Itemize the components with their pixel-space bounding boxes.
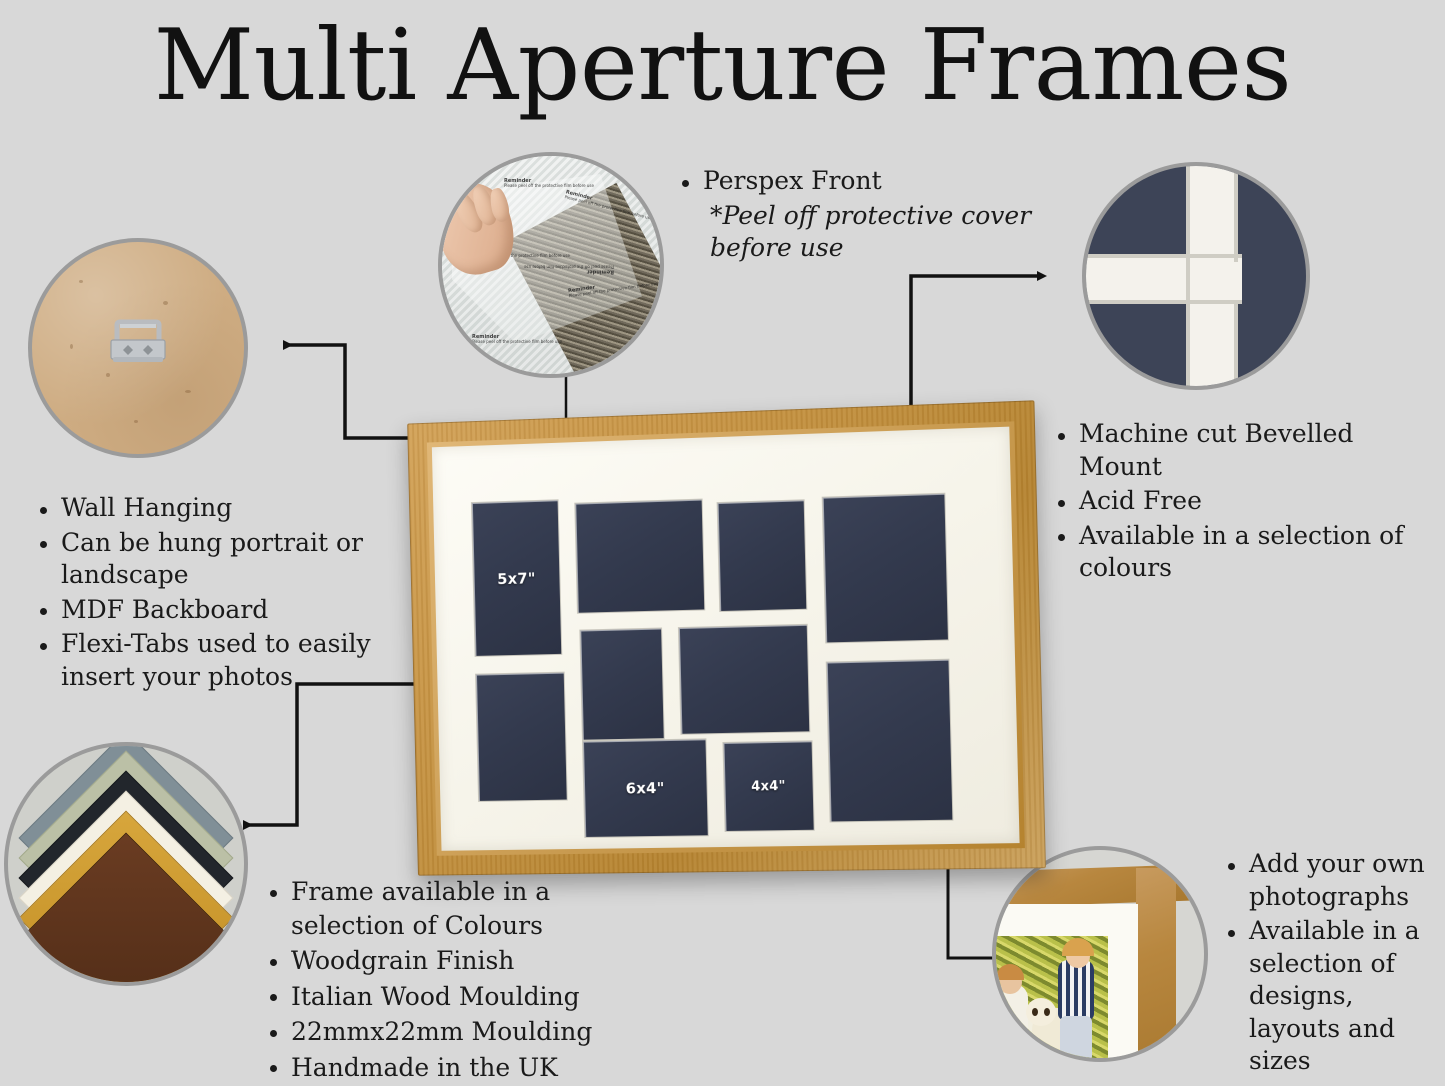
bullet-item: Wall Hanging — [34, 492, 384, 525]
bullet-item: 22mmx22mm Moulding — [264, 1015, 594, 1049]
aperture-4x4: 4x4" — [723, 741, 813, 831]
page-title: Multi Aperture Frames — [0, 14, 1445, 120]
bevelled-mount-circle — [1082, 162, 1310, 390]
mount-bar-horizontal — [1082, 258, 1242, 300]
callout-wall-hanging: Wall Hanging Can be hung portrait or lan… — [34, 492, 384, 695]
bevel-edge — [1234, 302, 1238, 390]
callout-bevelled-mount: Machine cut Bevelled Mount Acid Free Ava… — [1052, 418, 1412, 587]
film-reminder-label: ReminderPlease peel off the protective f… — [472, 334, 562, 344]
callout-perspex-front: Perspex Front *Peel off protective cover… — [676, 165, 1032, 267]
bullet-item: Frame available in a selection of Colour… — [264, 875, 594, 942]
mount-board: 5x7" 6x4" 4x4" — [432, 427, 1020, 851]
infographic-canvas: Multi Aperture Frames — [0, 0, 1445, 1084]
bullet-item: Available in a selection of colours — [1052, 520, 1412, 585]
aperture — [575, 500, 704, 613]
bullet-item: Available in a selection of designs, lay… — [1222, 915, 1445, 1078]
film-reminder-label: ReminderPlease peel off the protective f… — [504, 178, 594, 188]
frame-moulding-right — [1136, 868, 1176, 1062]
bullet-item: Machine cut Bevelled Mount — [1052, 418, 1412, 483]
aperture-6x4: 6x4" — [583, 739, 708, 837]
bevel-edge — [1082, 254, 1242, 258]
bullet-item: Woodgrain Finish — [264, 944, 594, 978]
perspex-note: *Peel off protective cover before use — [676, 200, 1032, 265]
connector-to-wall-hanging — [284, 345, 418, 438]
film-reminder-label: ReminderPlease peel off the protective f… — [524, 264, 614, 274]
bullet-item: Italian Wood Moulding — [264, 980, 594, 1014]
callout-frame-colours: Frame available in a selection of Colour… — [264, 875, 594, 1086]
aperture — [823, 494, 948, 643]
bullet-item: Handmade in the UK — [264, 1051, 594, 1085]
bevel-edge — [1186, 162, 1190, 390]
bevel-edge — [1082, 300, 1242, 304]
family-photograph — [992, 936, 1108, 1062]
aperture — [718, 500, 807, 611]
bullet-item: Add your own photographs — [1222, 848, 1445, 913]
bullet-item: Perspex Front — [676, 165, 1032, 198]
bevel-edge — [1234, 162, 1238, 262]
bullet-item: Flexi-Tabs used to easily insert your ph… — [34, 628, 384, 693]
aperture — [827, 660, 953, 822]
bullet-item: MDF Backboard — [34, 594, 384, 627]
perspex-peel-circle: ReminderPlease peel off the protective f… — [438, 152, 664, 378]
aperture — [476, 673, 567, 801]
multi-aperture-frame: 5x7" 6x4" 4x4" — [406, 412, 1036, 872]
hanging-bracket-icon — [109, 317, 167, 367]
aperture — [580, 629, 663, 740]
bullet-item: Acid Free — [1052, 485, 1412, 518]
frame-colours-circle — [4, 742, 248, 986]
aperture — [679, 625, 809, 734]
mdf-backboard-circle — [28, 238, 248, 458]
aperture-5x7: 5x7" — [472, 500, 561, 656]
connector-to-frame-colours — [244, 684, 424, 825]
callout-own-photographs: Add your own photographs Available in a … — [1222, 848, 1445, 1080]
bullet-item: Can be hung portrait or landscape — [34, 527, 384, 592]
framed-photo-circle — [992, 846, 1208, 1062]
